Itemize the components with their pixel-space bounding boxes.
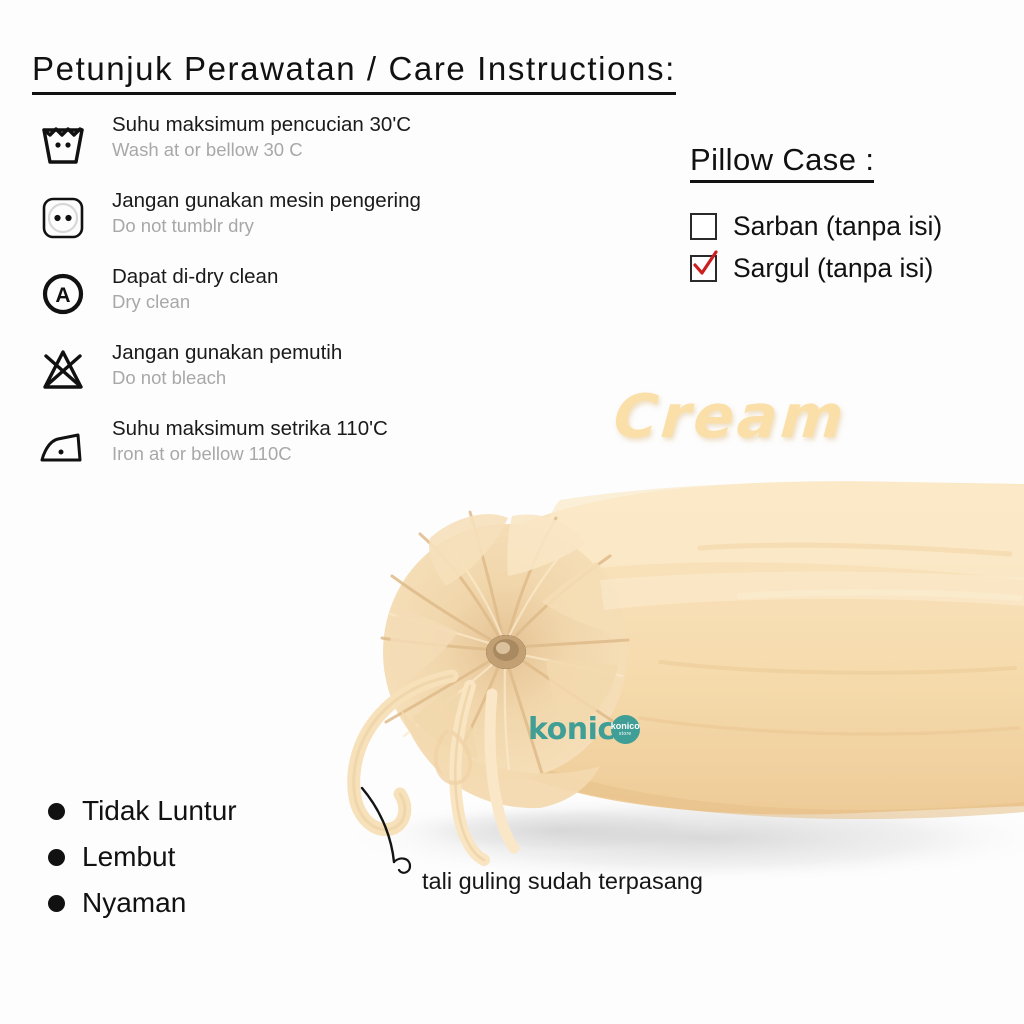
color-label: Cream xyxy=(612,382,849,452)
option-sarban[interactable]: Sarban (tanpa isi) xyxy=(690,205,942,247)
feature-item: Nyaman xyxy=(48,880,237,926)
wash-tub-icon xyxy=(34,114,92,170)
iron-one-dot-icon xyxy=(34,418,92,474)
care-item: Suhu maksimum pencucian 30'C Wash at or … xyxy=(34,112,554,188)
features-list: Tidak Luntur Lembut Nyaman xyxy=(48,788,237,926)
care-item-label-en: Wash at or bellow 30 C xyxy=(112,139,303,160)
care-item-text: Suhu maksimum setrika 110'C Iron at or b… xyxy=(112,416,388,466)
care-item-label-en: Do not tumblr dry xyxy=(112,215,254,236)
checkmark-icon xyxy=(689,248,721,280)
care-item-label-id: Dapat di-dry clean xyxy=(112,265,278,288)
care-item-label-id: Suhu maksimum pencucian 30'C xyxy=(112,113,411,136)
checkbox-sarban[interactable] xyxy=(690,213,717,240)
care-item: Jangan gunakan pemutih Do not bleach xyxy=(34,340,554,416)
watermark-text: konic xyxy=(528,712,615,747)
care-item: Jangan gunakan mesin pengering Do not tu… xyxy=(34,188,554,264)
option-sarban-label: Sarban (tanpa isi) xyxy=(733,211,942,242)
watermark-badge: konico store xyxy=(611,715,640,744)
no-bleach-icon xyxy=(34,342,92,398)
konico-watermark: konic konico store xyxy=(528,712,640,747)
page-title: Petunjuk Perawatan / Care Instructions: xyxy=(32,50,676,95)
pillow-case-heading: Pillow Case : xyxy=(690,142,874,183)
bullet-icon xyxy=(48,803,65,820)
option-sargul[interactable]: Sargul (tanpa isi) xyxy=(690,247,942,289)
svg-text:A: A xyxy=(55,284,70,307)
annotation-caption: tali guling sudah terpasang xyxy=(422,868,703,895)
feature-label: Tidak Luntur xyxy=(82,795,237,827)
no-tumble-dry-icon xyxy=(34,190,92,246)
bullet-icon xyxy=(48,895,65,912)
care-instructions-list: Suhu maksimum pencucian 30'C Wash at or … xyxy=(34,112,554,492)
care-item: A Dapat di-dry clean Dry clean xyxy=(34,264,554,340)
care-item-text: Jangan gunakan pemutih Do not bleach xyxy=(112,340,342,390)
pillow-case-section: Pillow Case : Sarban (tanpa isi) Sargul … xyxy=(690,142,942,289)
watermark-badge-line1: konico xyxy=(611,722,640,731)
option-sargul-label: Sargul (tanpa isi) xyxy=(733,253,933,284)
watermark-badge-line2: store xyxy=(619,732,632,737)
bullet-icon xyxy=(48,849,65,866)
feature-label: Nyaman xyxy=(82,887,186,919)
care-item-label-id: Jangan gunakan mesin pengering xyxy=(112,189,421,212)
feature-item: Lembut xyxy=(48,834,237,880)
care-item-text: Suhu maksimum pencucian 30'C Wash at or … xyxy=(112,112,411,162)
product-info-card: konic konico store Petunjuk Perawatan / … xyxy=(0,0,1024,1024)
care-item-label-id: Jangan gunakan pemutih xyxy=(112,341,342,364)
care-item-text: Dapat di-dry clean Dry clean xyxy=(112,264,278,314)
feature-item: Tidak Luntur xyxy=(48,788,237,834)
care-item-label-en: Iron at or bellow 110C xyxy=(112,443,292,464)
care-item-label-en: Dry clean xyxy=(112,291,190,312)
care-item-label-id: Suhu maksimum setrika 110'C xyxy=(112,417,388,440)
care-item-label-en: Do not bleach xyxy=(112,367,226,388)
dry-clean-a-icon: A xyxy=(34,266,92,322)
feature-label: Lembut xyxy=(82,841,175,873)
checkbox-sargul[interactable] xyxy=(690,255,717,282)
pillow-case-options: Sarban (tanpa isi) Sargul (tanpa isi) xyxy=(690,205,942,289)
care-item: Suhu maksimum setrika 110'C Iron at or b… xyxy=(34,416,554,492)
care-item-text: Jangan gunakan mesin pengering Do not tu… xyxy=(112,188,421,238)
